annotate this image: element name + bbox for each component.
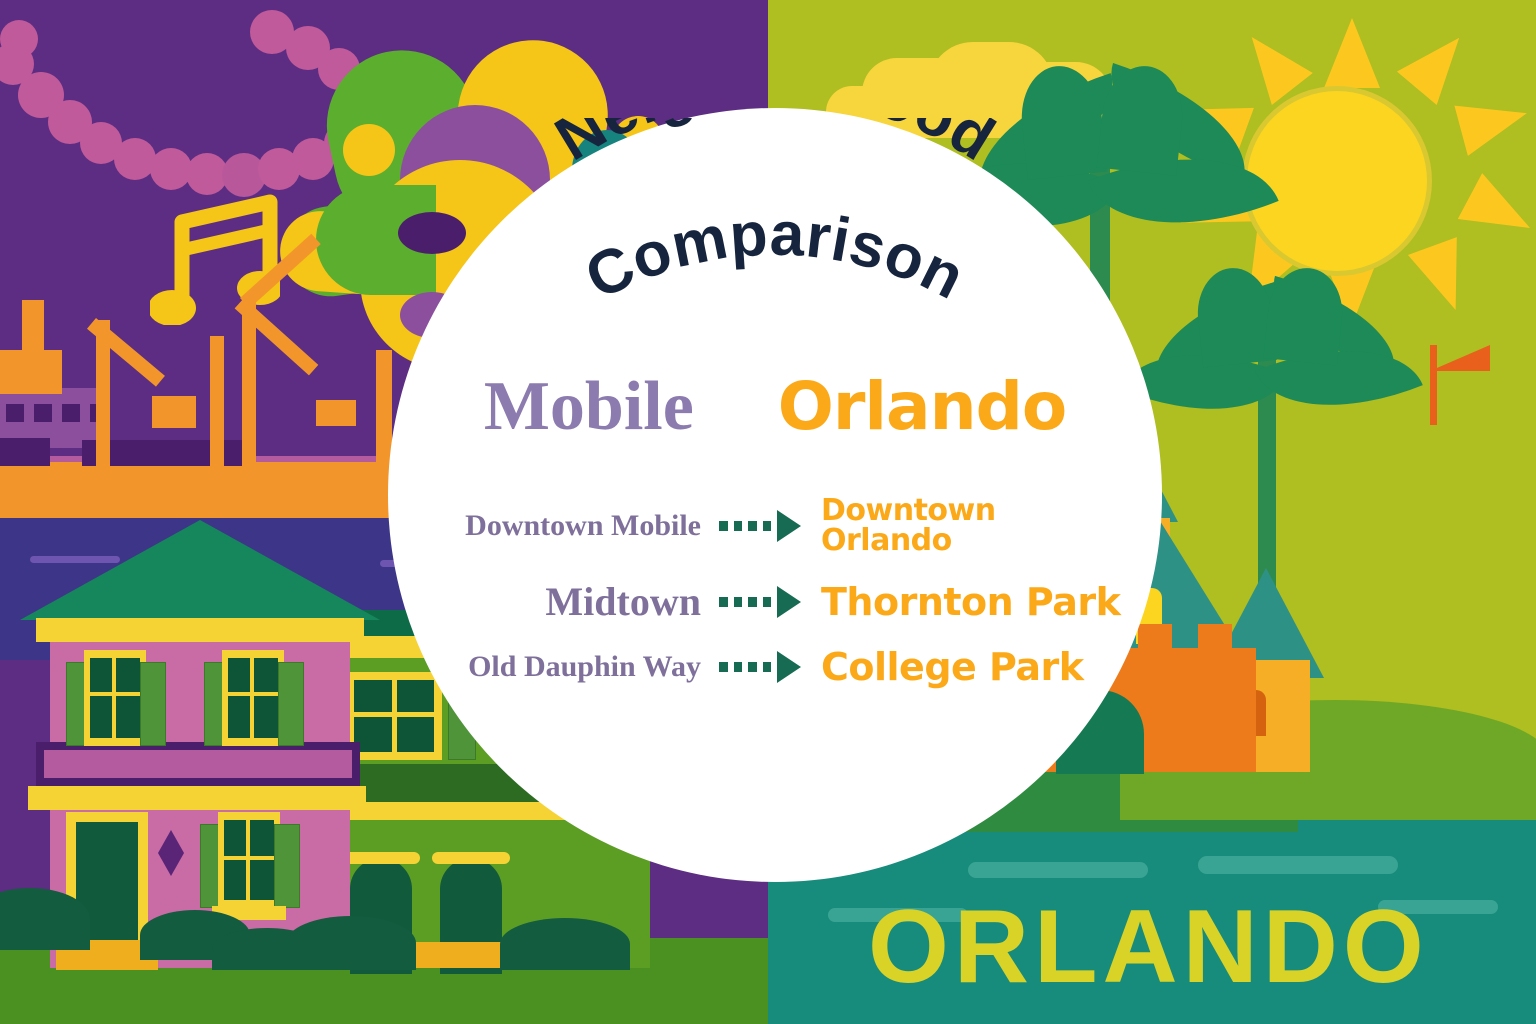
mobile-neighborhood-label: Downtown Mobile <box>419 511 719 541</box>
city-heading-orlando: Orlando <box>778 374 1066 440</box>
music-note-icon <box>150 190 280 325</box>
city-heading-mobile: Mobile <box>484 372 694 442</box>
orlando-neighborhood-label: College Park <box>801 648 1131 686</box>
comparison-row: Midtown Thornton Park <box>400 582 1150 622</box>
comparison-row: Downtown Mobile Downtown Orlando <box>400 496 1150 556</box>
svg-text:Comparison: Comparison <box>575 200 975 313</box>
comparison-list: Downtown Mobile Downtown Orlando Midtown… <box>400 496 1150 712</box>
mobile-neighborhood-label: Midtown <box>419 582 719 622</box>
flag-icon <box>1430 345 1490 371</box>
shrub <box>500 918 630 970</box>
dashed-arrow-right-icon <box>719 651 801 683</box>
title-line-2: Comparison <box>575 200 975 313</box>
infographic-canvas: ORLANDO Neighborhood Comparison Mobile O… <box>0 0 1536 1024</box>
city-headings: Mobile Orlando <box>420 362 1130 452</box>
orlando-neighborhood-label: Downtown Orlando <box>801 496 1131 556</box>
shrub <box>286 916 416 970</box>
dashed-arrow-right-icon <box>719 586 801 618</box>
mobile-neighborhood-label: Old Dauphin Way <box>419 652 719 682</box>
dashed-arrow-right-icon <box>719 510 801 542</box>
orlando-neighborhood-label: Thornton Park <box>801 583 1131 621</box>
svg-text:Neighborhood: Neighborhood <box>544 118 1006 174</box>
title-line-1: Neighborhood <box>544 118 1006 174</box>
orlando-overlay-word: ORLANDO <box>868 888 1429 1007</box>
comparison-row: Old Dauphin Way College Park <box>400 648 1150 686</box>
